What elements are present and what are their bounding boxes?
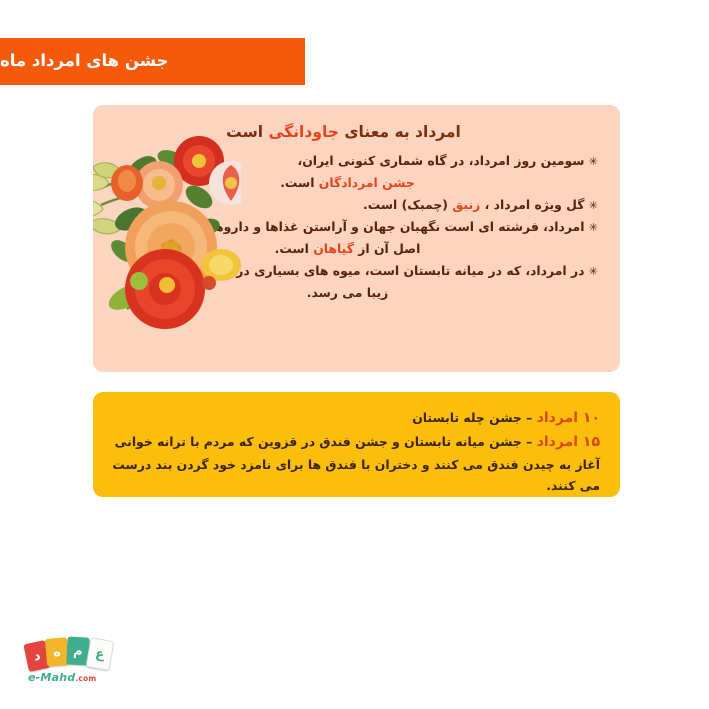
main-content-panel: امرداد به معنای جاودانگی است ✳ سومین روز…: [93, 105, 620, 372]
fact-text: زیبا می رسد.: [307, 285, 389, 300]
asterisk-icon: ✳: [589, 155, 598, 168]
date-separator: –: [522, 410, 537, 425]
fact-text: سومین روز امرداد، در گاه شماری کنونی ایر…: [298, 153, 585, 168]
fact-line: ✳ امرداد، فرشته ای است نگهبان جهان و آرا…: [105, 217, 598, 237]
fact-text: است.: [280, 175, 319, 190]
fact-text: در امرداد، که در میانه تابستان است، میوه…: [189, 263, 585, 278]
date-separator: –: [522, 434, 537, 449]
fact-text: (چمبک) است.: [363, 197, 452, 212]
panel-title-prefix: امرداد به معنای: [339, 123, 461, 141]
logo-wordmark: e-Mahd.com: [28, 671, 122, 684]
fact-text: گل ویژه امرداد ،: [480, 197, 584, 212]
dates-panel: ۱۰ امرداد – جشن چله تابستان ۱۵ امرداد – …: [93, 392, 620, 497]
fact-line: ✳ سومین روز امرداد، در گاه شماری کنونی ا…: [105, 151, 598, 171]
fact-text: اصل آن از: [354, 241, 420, 256]
fact-highlight: زنبق: [452, 197, 480, 212]
logo-tiles: د ه م ع: [26, 636, 122, 670]
date-entry: ۱۰ امرداد – جشن چله تابستان: [107, 406, 600, 430]
panel-title-highlight: جاودانگی: [269, 123, 339, 141]
asterisk-icon: ✳: [589, 265, 598, 278]
fact-highlight: جشن امردادگان: [319, 175, 415, 190]
asterisk-icon: ✳: [589, 221, 598, 234]
fact-highlight: گیاهان: [313, 241, 354, 256]
logo-tile-icon: ع: [86, 637, 115, 671]
infographic-page: جشن های امرداد ماه: [0, 0, 709, 709]
site-logo[interactable]: د ه م ع e-Mahd.com: [26, 636, 122, 686]
date-description: جشن چله تابستان: [412, 410, 522, 425]
fact-line: جشن امردادگان است.: [105, 173, 598, 193]
page-title: جشن های امرداد ماه: [0, 53, 168, 70]
fact-line: ✳ در امرداد، که در میانه تابستان است، می…: [105, 261, 598, 281]
main-text-body: امرداد به معنای جاودانگی است ✳ سومین روز…: [105, 123, 598, 303]
fact-text: امرداد، فرشته ای است نگهبان جهان و آراست…: [191, 219, 584, 234]
fact-line: زیبا می رسد.: [105, 283, 598, 303]
fact-line: اصل آن از گیاهان است.: [105, 239, 598, 259]
date-number: ۱۵ امرداد: [537, 434, 600, 450]
asterisk-icon: ✳: [589, 199, 598, 212]
panel-title-suffix: است: [226, 123, 268, 141]
logo-domain: .com: [75, 674, 96, 683]
fact-line: ✳ گل ویژه امرداد ، زنبق (چمبک) است.: [105, 195, 598, 215]
panel-title: امرداد به معنای جاودانگی است: [105, 123, 598, 142]
fact-text: است.: [275, 241, 314, 256]
header-bar: جشن های امرداد ماه: [0, 38, 305, 85]
date-number: ۱۰ امرداد: [537, 410, 600, 426]
logo-name: e-Mahd: [28, 671, 75, 684]
date-entry: ۱۵ امرداد – جشن میانه تابستان و جشن فندق…: [107, 430, 600, 497]
